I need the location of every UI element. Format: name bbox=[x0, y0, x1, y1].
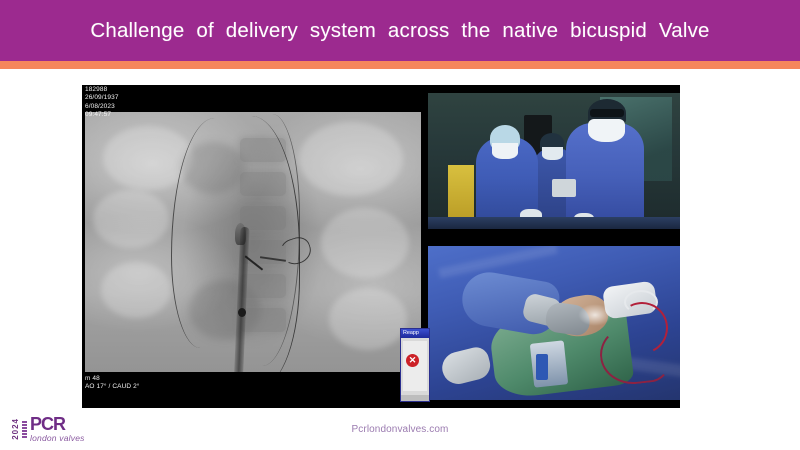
or-table-edge bbox=[428, 217, 680, 229]
fluoroscopy-panel: 182988 26/09/1937 6/08/2023 09:47:57 m 4… bbox=[82, 85, 428, 408]
face-mask-icon bbox=[492, 143, 518, 159]
dialog-footer bbox=[401, 395, 429, 401]
header-accent-bar bbox=[0, 61, 800, 69]
dialog-body: ✕ bbox=[403, 341, 427, 391]
fluoro-angle-overlay: m 48 AO 17° / CAUD 2° bbox=[85, 375, 139, 390]
page-title: Challenge of delivery system across the … bbox=[90, 19, 709, 43]
footer-url[interactable]: Pcrlondonvalves.com bbox=[0, 424, 800, 435]
fluoro-patient-dob: 26/09/1937 bbox=[85, 94, 119, 102]
fluoro-study-overlay: 6/08/2023 09:47:57 bbox=[85, 103, 115, 118]
error-icon: ✕ bbox=[406, 354, 419, 367]
fluoro-frame-count: m 48 bbox=[85, 375, 139, 383]
slide-header-band: Challenge of delivery system across the … bbox=[0, 0, 800, 61]
access-site-video bbox=[428, 246, 680, 400]
fluoro-angulation: AO 17° / CAUD 2° bbox=[85, 383, 139, 391]
tissue-texture bbox=[321, 208, 409, 278]
radiopaque-marker bbox=[238, 308, 246, 317]
logo-subtitle-text: london valves bbox=[30, 434, 85, 443]
tissue-texture bbox=[299, 122, 403, 196]
tissue-texture bbox=[329, 288, 407, 350]
face-mask-icon bbox=[588, 119, 625, 142]
fluoroscopy-image bbox=[85, 112, 421, 372]
or-room-video bbox=[428, 93, 680, 229]
face-mask-icon bbox=[542, 147, 563, 160]
video-wall: 182988 26/09/1937 6/08/2023 09:47:57 m 4… bbox=[82, 85, 680, 408]
tissue-texture bbox=[101, 262, 171, 318]
fluoro-study-date: 6/08/2023 bbox=[85, 103, 115, 111]
delivery-system-nosecone bbox=[235, 223, 246, 245]
fluoro-patient-overlay: 182988 26/09/1937 bbox=[85, 86, 119, 101]
reappraisal-dialog[interactable]: Reapp ✕ bbox=[400, 328, 430, 402]
dialog-title: Reapp bbox=[401, 329, 429, 338]
lead-apron bbox=[448, 165, 474, 225]
light-glare bbox=[578, 304, 612, 326]
fluoro-patient-id: 182988 bbox=[85, 86, 119, 94]
or-equipment-tray bbox=[552, 179, 576, 197]
device-handle bbox=[536, 354, 548, 380]
fluoro-study-time: 09:47:57 bbox=[85, 111, 115, 119]
protective-glasses-icon bbox=[590, 109, 624, 117]
tissue-texture bbox=[93, 190, 169, 248]
